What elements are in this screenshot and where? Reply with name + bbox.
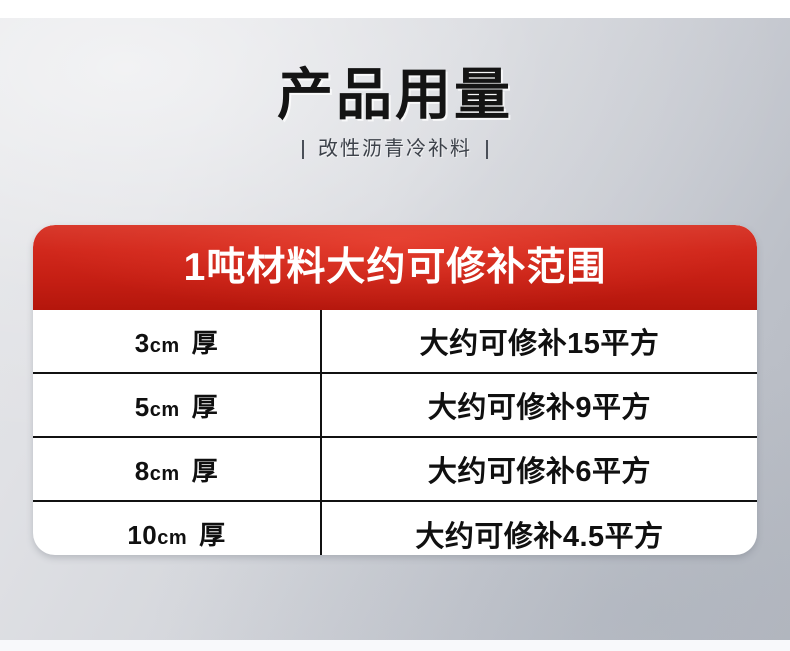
thickness-label: 5cm厚	[135, 387, 218, 424]
thickness-label: 10cm厚	[127, 515, 225, 552]
table-cell-thickness: 10cm厚	[33, 502, 322, 555]
coverage-card-header-label: 1吨材料大约可修补范围	[184, 245, 607, 291]
thickness-unit: cm	[157, 527, 187, 549]
thickness-value: 10	[127, 520, 157, 550]
table-cell-coverage: 大约可修补6平方	[322, 438, 757, 500]
product-usage-infographic: 产品用量 改性沥青冷补料 1吨材料大约可修补范围 3cm厚 大约可修补15平方 …	[0, 0, 790, 651]
thickness-label: 8cm厚	[135, 451, 218, 488]
page-title: 产品用量	[0, 62, 790, 128]
table-cell-thickness: 5cm厚	[33, 374, 322, 436]
table-cell-thickness: 8cm厚	[33, 438, 322, 500]
coverage-card-header: 1吨材料大约可修补范围	[33, 225, 757, 310]
thickness-value: 5	[135, 392, 150, 422]
thickness-word: 厚	[192, 392, 219, 422]
heading-block: 产品用量 改性沥青冷补料	[0, 62, 790, 161]
thickness-value: 8	[135, 456, 150, 486]
subtitle-right-rule-icon	[486, 140, 488, 159]
bottom-white-strip	[0, 640, 790, 651]
thickness-value: 3	[135, 328, 150, 358]
thickness-unit: cm	[150, 399, 180, 421]
table-cell-coverage: 大约可修补9平方	[322, 374, 757, 436]
table-cell-thickness: 3cm厚	[33, 310, 322, 372]
thickness-word: 厚	[192, 328, 219, 358]
table-cell-coverage: 大约可修补15平方	[322, 310, 757, 372]
coverage-value: 大约可修补15平方	[420, 320, 660, 362]
subtitle-row: 改性沥青冷补料	[0, 137, 790, 161]
thickness-word: 厚	[192, 456, 219, 486]
table-row: 5cm厚 大约可修补9平方	[33, 374, 757, 438]
table-cell-coverage: 大约可修补4.5平方	[322, 502, 757, 555]
table-row: 10cm厚 大约可修补4.5平方	[33, 502, 757, 555]
coverage-card: 1吨材料大约可修补范围 3cm厚 大约可修补15平方 5cm厚 大约可修补9平方	[33, 225, 757, 555]
table-row: 8cm厚 大约可修补6平方	[33, 438, 757, 502]
subtitle-left-rule-icon	[302, 140, 304, 159]
top-white-strip	[0, 0, 790, 18]
coverage-value: 大约可修补6平方	[428, 448, 651, 490]
coverage-value: 大约可修补4.5平方	[415, 513, 663, 555]
thickness-unit: cm	[150, 335, 180, 357]
table-row: 3cm厚 大约可修补15平方	[33, 310, 757, 374]
thickness-label: 3cm厚	[135, 323, 218, 360]
thickness-unit: cm	[150, 463, 180, 485]
thickness-word: 厚	[199, 520, 226, 550]
coverage-table: 3cm厚 大约可修补15平方 5cm厚 大约可修补9平方 8cm厚	[33, 310, 757, 555]
page-subtitle: 改性沥青冷补料	[318, 137, 472, 161]
coverage-value: 大约可修补9平方	[428, 384, 651, 426]
